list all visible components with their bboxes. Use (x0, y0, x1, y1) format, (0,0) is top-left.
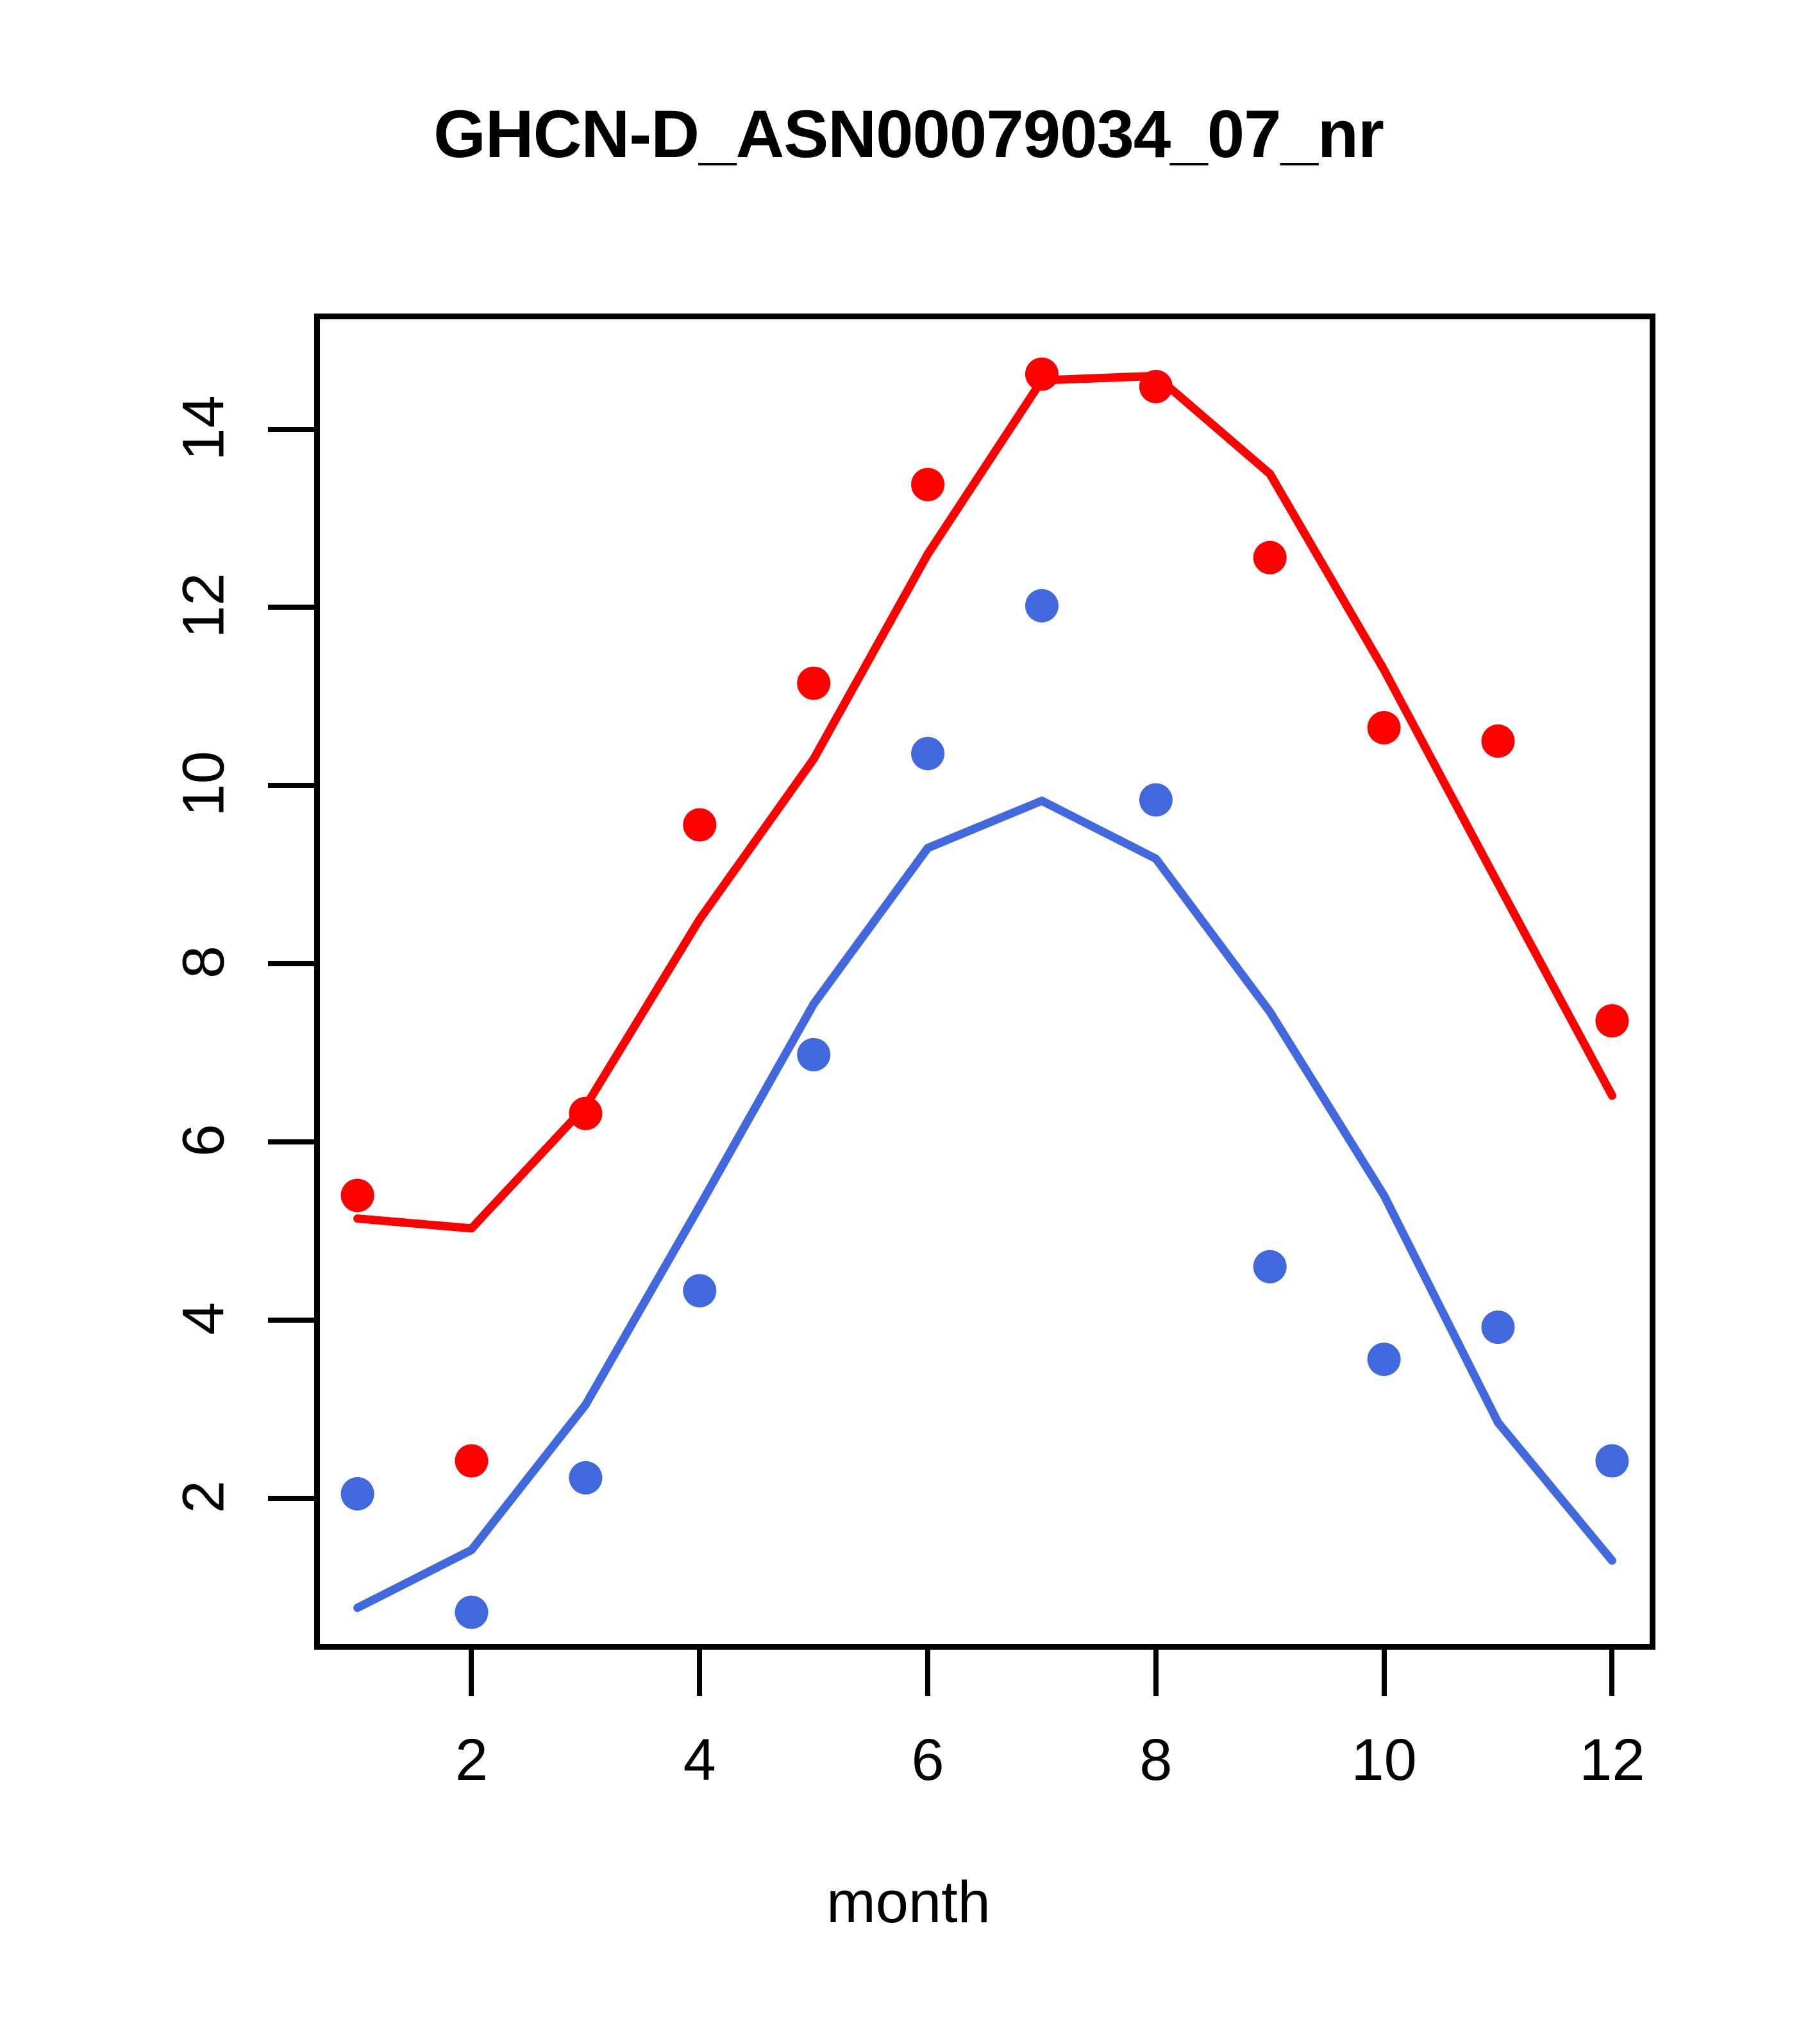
x-tick-label: 8 (1073, 1727, 1239, 1794)
y-tick-label: 6 (171, 1076, 238, 1205)
x-tick-mark (697, 1650, 702, 1696)
page-title: GHCN-D_ASN00079034_07_nr (0, 96, 1817, 173)
y-tick-label: 14 (171, 364, 238, 492)
x-tick-mark (1609, 1650, 1614, 1696)
x-tick-mark (469, 1650, 474, 1696)
x-tick-label: 12 (1528, 1727, 1695, 1794)
x-tick-label: 6 (844, 1727, 1011, 1794)
x-tick-mark (925, 1650, 930, 1696)
y-tick-mark (268, 605, 314, 610)
y-tick-mark (268, 1318, 314, 1323)
y-tick-label: 2 (171, 1432, 238, 1561)
x-tick-label: 2 (388, 1727, 555, 1794)
y-tick-mark (268, 783, 314, 788)
x-tick-label: 4 (616, 1727, 783, 1794)
y-tick-mark (268, 427, 314, 432)
y-tick-label: 4 (171, 1254, 238, 1382)
y-tick-label: 10 (171, 720, 238, 848)
plot-frame (314, 314, 1655, 1650)
x-tick-mark (1382, 1650, 1387, 1696)
y-tick-mark (268, 961, 314, 966)
y-tick-mark (268, 1496, 314, 1501)
x-tick-mark (1153, 1650, 1159, 1696)
x-axis-label: month (0, 1869, 1817, 1936)
y-tick-mark (268, 1139, 314, 1144)
chart-page: GHCN-D_ASN00079034_07_nr 2468101214 2468… (0, 0, 1817, 2044)
plot-area (314, 314, 1655, 1650)
y-tick-label: 12 (171, 542, 238, 670)
y-tick-label: 8 (171, 898, 238, 1026)
x-tick-label: 10 (1301, 1727, 1468, 1794)
